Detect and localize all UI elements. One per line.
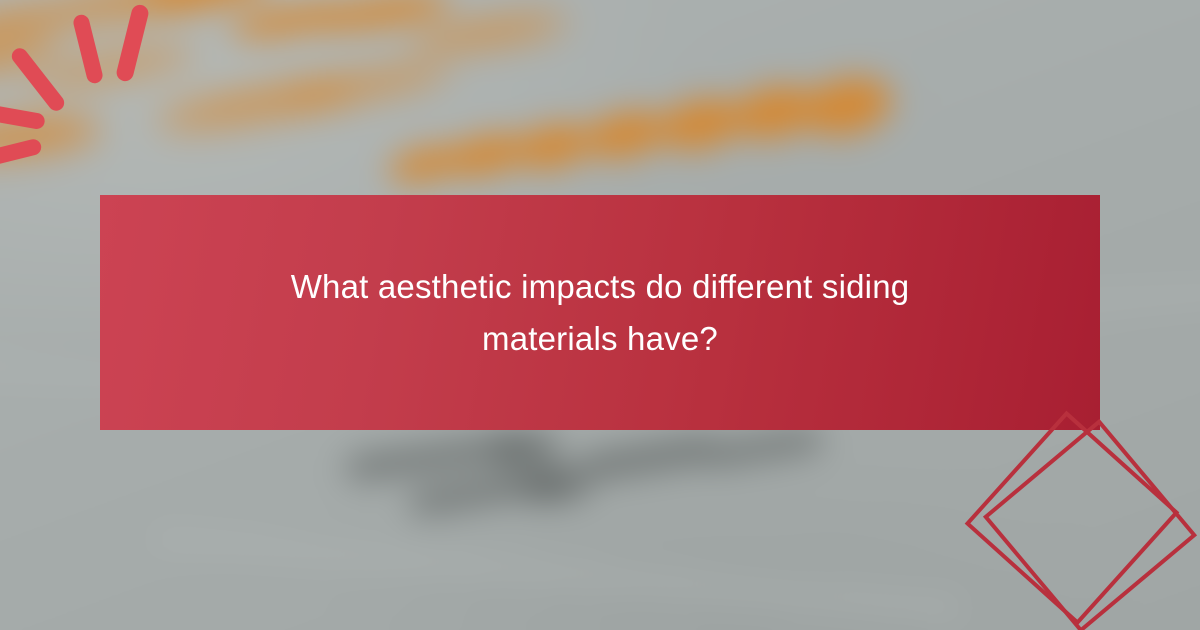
sparkle-ray	[72, 13, 104, 85]
share-card: What aesthetic impacts do different sidi…	[0, 0, 1200, 630]
rotated-square-outlines	[970, 408, 1200, 630]
page-title: What aesthetic impacts do different sidi…	[235, 261, 965, 363]
question-banner: What aesthetic impacts do different sidi…	[100, 195, 1100, 430]
sparkle-ray	[9, 45, 68, 114]
square-outline	[983, 419, 1197, 630]
sparkle-ray	[0, 138, 43, 171]
sparkle-burst	[0, 0, 230, 200]
sparkle-ray	[115, 3, 150, 83]
sparkle-ray	[0, 104, 46, 131]
